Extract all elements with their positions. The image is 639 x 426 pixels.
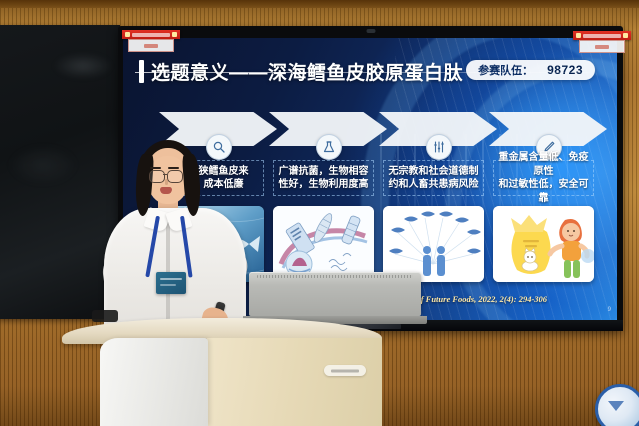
presenter-nose <box>165 179 168 185</box>
banner-left-emblem-icon <box>125 32 130 37</box>
slide-page-number: 9 <box>608 307 611 313</box>
banner-right-emblem-icon-2 <box>623 33 628 38</box>
lectern-front-wood <box>207 338 382 426</box>
slide-textbox-3-text: 无宗教和社会道德制约和人畜共患病风险 <box>389 165 479 192</box>
banner-right-text-bar <box>583 34 621 38</box>
blue-circular-object <box>595 384 639 426</box>
blue-circular-object-mark <box>608 401 624 411</box>
laptop[interactable] <box>249 272 421 324</box>
slide-textbox-3: 无宗教和社会道德制约和人畜共患病风险 <box>383 160 484 196</box>
blackboard-smudge-2 <box>8 145 78 185</box>
lectern-front-panel <box>100 338 208 426</box>
team-number: 98723 <box>547 63 583 77</box>
red-event-banner-left <box>122 30 180 53</box>
slide-textbox-4: 重金属含量低、免疫原性和过敏性低，安全可靠 <box>493 160 594 196</box>
banner-left-emblem-icon-2 <box>172 32 177 37</box>
banner-left-body-text <box>144 44 158 48</box>
id-badge-line-1 <box>160 278 182 280</box>
banner-right-body <box>579 40 625 53</box>
podium-nameplate-text <box>331 369 359 372</box>
glasses-lens-right-icon <box>167 170 183 183</box>
panel-allergy-safety <box>493 206 594 282</box>
banner-right-emblem-icon <box>576 33 581 38</box>
title-underline <box>135 72 590 73</box>
lectern <box>62 318 382 426</box>
flask-icon <box>316 134 342 160</box>
lecture-room-scene: 选题意义——深海鳕鱼皮胶原蛋白肽 参赛队伍： 98723 <box>0 0 639 426</box>
citation-right: of Future Foods, 2022, 2(4): 294-306 <box>416 294 547 304</box>
banner-right-header <box>573 31 631 40</box>
slide-title-row: 选题意义——深海鳕鱼皮胶原蛋白肽 参赛队伍： 98723 <box>139 58 603 88</box>
banner-right-body-text <box>595 45 609 49</box>
slide-textbox-2-text: 广谱抗菌，生物相容性好，生物利用度高 <box>279 165 369 192</box>
panel-species-network <box>383 206 484 282</box>
team-badge: 参赛队伍： 98723 <box>466 60 595 80</box>
blackboard <box>0 25 120 319</box>
presenter-eyebrow-right <box>168 167 179 169</box>
id-badge-line-2 <box>160 284 176 286</box>
team-label: 参赛队伍： <box>478 62 533 78</box>
laptop-hinge <box>257 275 413 278</box>
slide-textbox-2: 广谱抗菌，生物相容性好，生物利用度高 <box>273 160 374 196</box>
presenter-mouth <box>160 187 172 194</box>
red-event-banner-right <box>573 31 631 54</box>
banner-left-header <box>122 30 180 39</box>
glasses-lens-left-icon <box>149 170 165 183</box>
blackboard-smudge <box>53 53 113 79</box>
laptop-lid[interactable] <box>249 272 421 316</box>
display-camera-icon <box>366 29 375 33</box>
id-badge <box>156 272 186 294</box>
podium-microphone[interactable] <box>92 310 118 322</box>
slide-textbox-4-text: 重金属含量低、免疫原性和过敏性低，安全可靠 <box>497 151 590 205</box>
podium-nameplate <box>324 365 366 376</box>
presenter-eyebrow-left <box>150 167 161 169</box>
glasses-bridge-icon <box>163 174 167 175</box>
panel-collagen-peptide-diagram <box>273 206 374 282</box>
banner-left-body <box>128 39 174 52</box>
banner-left-text-bar <box>132 33 170 37</box>
sliders-icon <box>426 134 452 160</box>
